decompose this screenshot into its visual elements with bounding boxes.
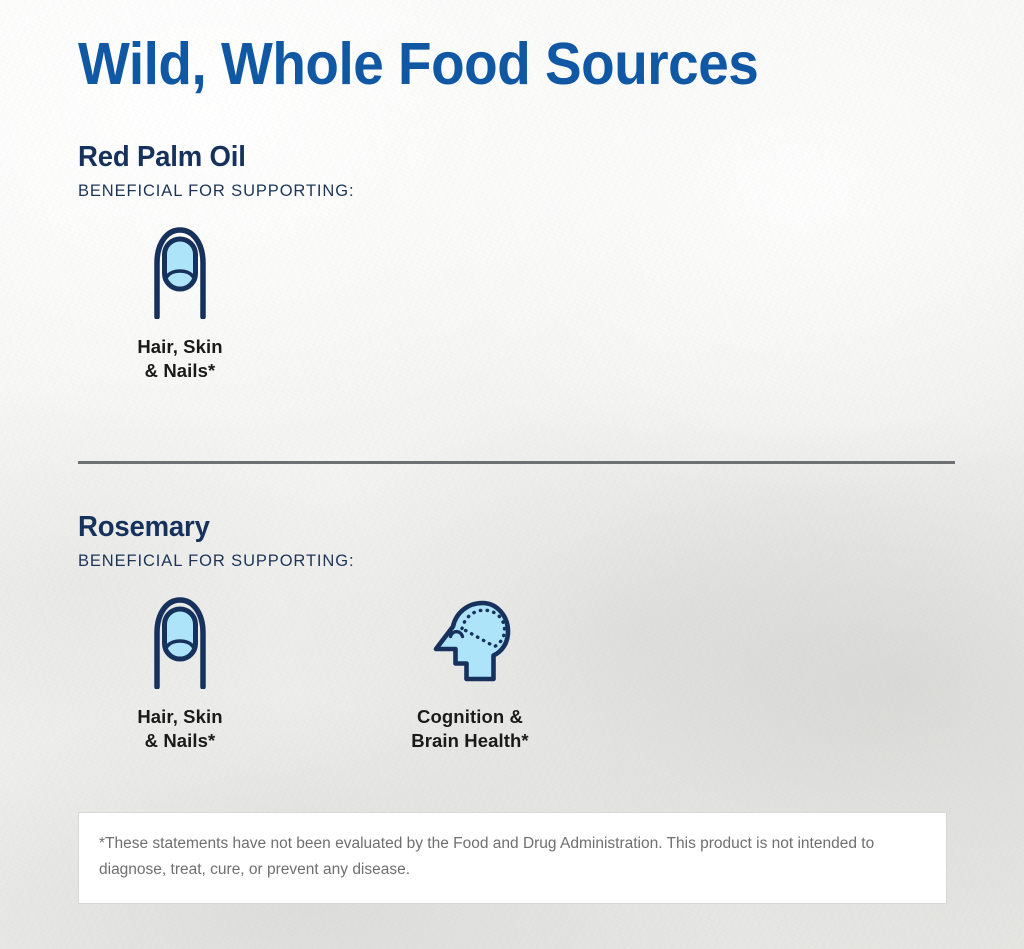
disclaimer-box: *These statements have not been evaluate…	[78, 812, 947, 904]
fingernail-icon	[141, 223, 219, 319]
benefit-item: Cognition & Brain Health*	[368, 593, 572, 753]
section-title-rosemary: Rosemary	[78, 510, 547, 544]
head-brain-icon	[422, 593, 518, 689]
page-root: Wild, Whole Food Sources Red Palm Oil BE…	[0, 0, 1024, 949]
benefit-list-red-palm-oil: Hair, Skin & Nails*	[78, 223, 354, 383]
section-red-palm-oil: Red Palm Oil BENEFICIAL FOR SUPPORTING: …	[78, 140, 354, 383]
benefit-label: Hair, Skin & Nails*	[137, 335, 222, 383]
section-subtitle-red-palm-oil: BENEFICIAL FOR SUPPORTING:	[78, 182, 354, 201]
disclaimer-text: *These statements have not been evaluate…	[99, 831, 926, 883]
section-rosemary: Rosemary BENEFICIAL FOR SUPPORTING: Hair…	[78, 510, 572, 753]
fingernail-icon	[141, 593, 219, 689]
benefit-list-rosemary: Hair, Skin & Nails* Cognition & Brain He…	[78, 593, 572, 753]
benefit-label: Cognition & Brain Health*	[411, 705, 528, 753]
section-divider	[78, 461, 955, 464]
benefit-item: Hair, Skin & Nails*	[78, 223, 282, 383]
section-title-red-palm-oil: Red Palm Oil	[78, 140, 341, 174]
page-title: Wild, Whole Food Sources	[78, 30, 758, 98]
section-subtitle-rosemary: BENEFICIAL FOR SUPPORTING:	[78, 552, 572, 571]
benefit-label: Hair, Skin & Nails*	[137, 705, 222, 753]
benefit-item: Hair, Skin & Nails*	[78, 593, 282, 753]
